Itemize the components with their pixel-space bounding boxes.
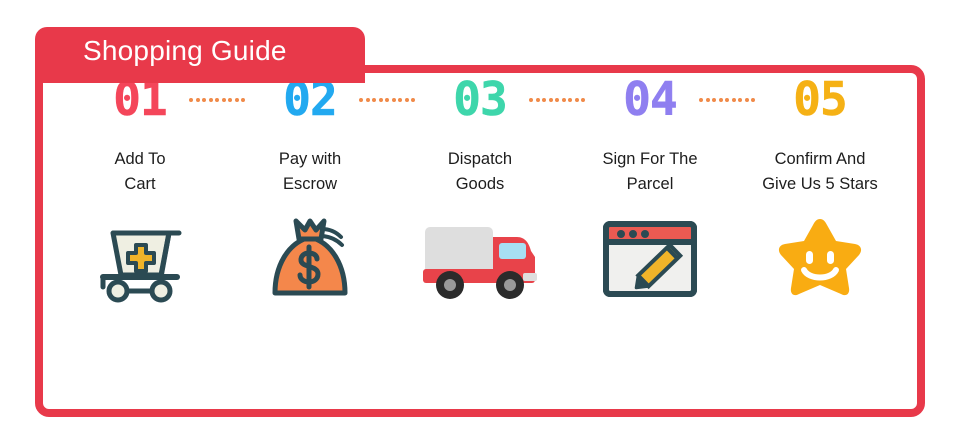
step-number-4: 04 bbox=[623, 73, 676, 125]
connector-dot bbox=[202, 98, 206, 102]
step-label-5: Confirm And Give Us 5 Stars bbox=[740, 147, 900, 197]
step-label-4: Sign For The Parcel bbox=[570, 147, 730, 197]
shopping-cart-icon bbox=[91, 215, 189, 303]
step-item-1: 01 Add To Cart bbox=[65, 73, 215, 305]
smiling-star-icon bbox=[773, 215, 867, 303]
connector-dot bbox=[555, 98, 559, 102]
connector-dot bbox=[379, 98, 383, 102]
step-label-line2: Give Us 5 Stars bbox=[740, 172, 900, 197]
signature-window-icon bbox=[600, 216, 700, 302]
step-label-line1: Sign For The bbox=[570, 147, 730, 172]
step-label-line1: Dispatch bbox=[400, 147, 560, 172]
step-label-line1: Pay with bbox=[230, 147, 390, 172]
connector-dot bbox=[549, 98, 553, 102]
step-item-5: 05 Confirm And Give Us 5 Stars bbox=[745, 73, 895, 305]
connector-dot bbox=[398, 98, 402, 102]
delivery-truck-icon bbox=[419, 217, 541, 301]
step-label-line1: Add To bbox=[60, 147, 220, 172]
step-label-3: Dispatch Goods bbox=[400, 147, 560, 197]
step-item-2: 02 Pay with Escrow bbox=[235, 73, 385, 305]
step-label-line2: Parcel bbox=[570, 172, 730, 197]
step-icon-4 bbox=[600, 213, 700, 305]
connector-dot bbox=[738, 98, 742, 102]
step-label-line2: Goods bbox=[400, 172, 560, 197]
step-icon-5 bbox=[773, 213, 867, 305]
step-number-3: 03 bbox=[453, 73, 506, 125]
connector-dot bbox=[568, 98, 572, 102]
steps-row: 01 Add To Cart bbox=[43, 73, 917, 371]
connector-dot bbox=[719, 98, 723, 102]
connector-dot bbox=[712, 98, 716, 102]
connector-dot bbox=[392, 98, 396, 102]
step-item-4: 04 Sign For The Parcel bbox=[575, 73, 725, 305]
step-icon-1 bbox=[91, 213, 189, 305]
connector-dot bbox=[215, 98, 219, 102]
connector-dot bbox=[222, 98, 226, 102]
step-icon-2 bbox=[265, 213, 355, 305]
step-label-2: Pay with Escrow bbox=[230, 147, 390, 197]
step-label-line2: Cart bbox=[60, 172, 220, 197]
connector-dot bbox=[359, 98, 363, 102]
connector-dot bbox=[732, 98, 736, 102]
connector-dot bbox=[366, 98, 370, 102]
shopping-guide-card: Shopping Guide 01 Add To Cart bbox=[35, 27, 925, 417]
connector-dot bbox=[699, 98, 703, 102]
step-label-line1: Confirm And bbox=[740, 147, 900, 172]
connector-dot bbox=[706, 98, 710, 102]
step-item-3: 03 Dispatch Goods bbox=[405, 73, 555, 305]
connector-dot bbox=[372, 98, 376, 102]
connector-dot bbox=[189, 98, 193, 102]
step-number-5: 05 bbox=[793, 73, 846, 125]
connector-dot bbox=[385, 98, 389, 102]
step-label-1: Add To Cart bbox=[60, 147, 220, 197]
connector-dot bbox=[196, 98, 200, 102]
connector-dot bbox=[209, 98, 213, 102]
connector-dot bbox=[562, 98, 566, 102]
page-title: Shopping Guide bbox=[83, 35, 287, 67]
connector-dot bbox=[228, 98, 232, 102]
money-bag-icon bbox=[265, 215, 355, 303]
connector-dot bbox=[536, 98, 540, 102]
connector-dot bbox=[542, 98, 546, 102]
step-label-line2: Escrow bbox=[230, 172, 390, 197]
step-icon-3 bbox=[419, 213, 541, 305]
connector-dot bbox=[725, 98, 729, 102]
connector-dot bbox=[529, 98, 533, 102]
